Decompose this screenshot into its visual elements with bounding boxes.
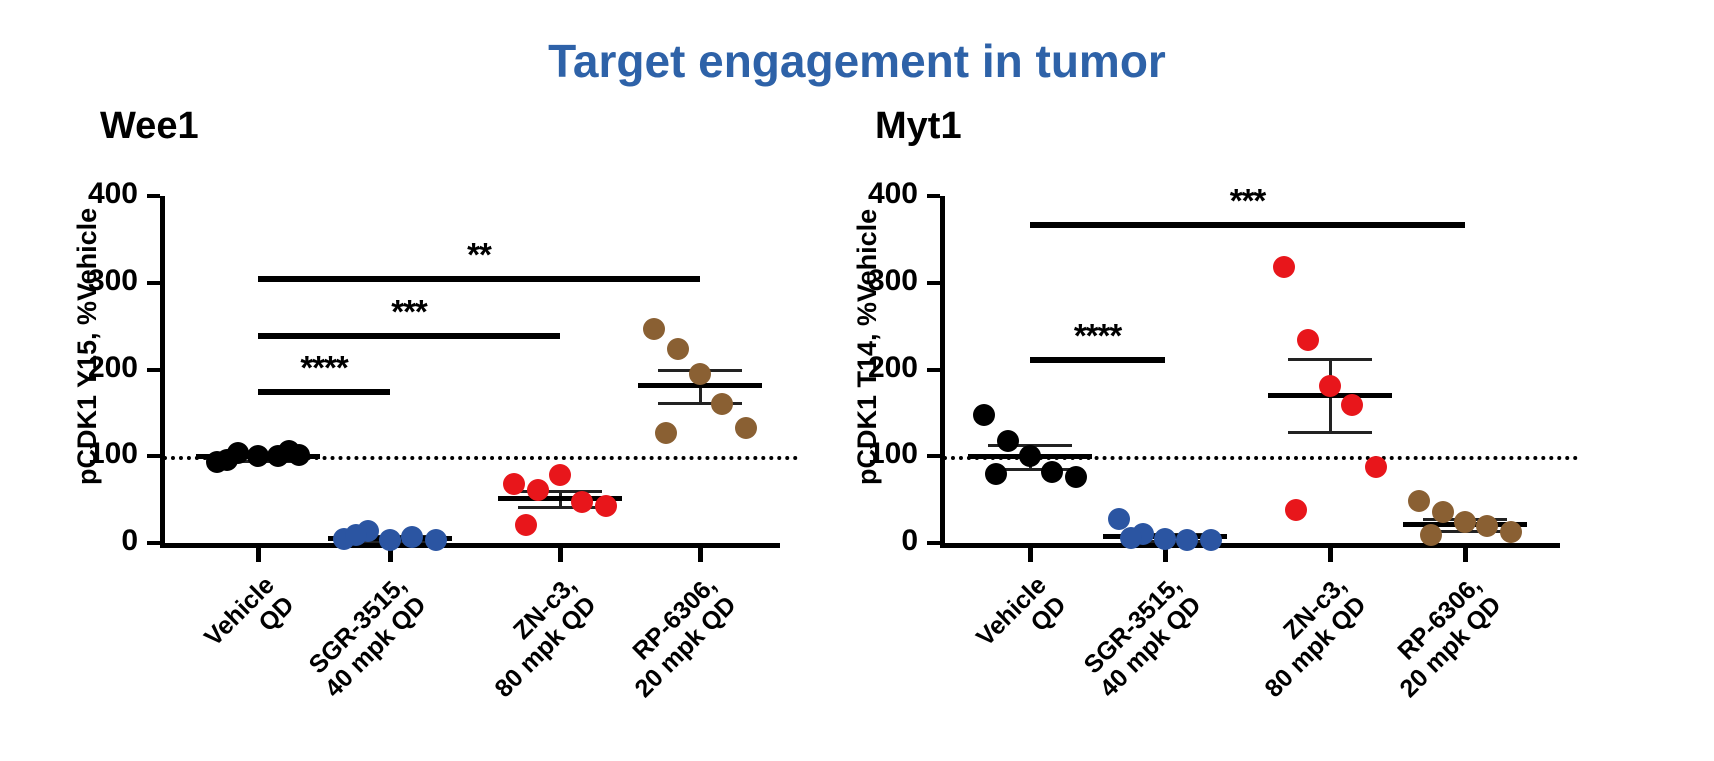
error-bar-cap-lower <box>1288 431 1372 434</box>
x-tick <box>558 548 563 562</box>
y-tick-label: 100 <box>20 437 138 471</box>
data-point <box>1176 529 1198 551</box>
data-point <box>1120 527 1142 549</box>
figure-title: Target engagement in tumor <box>0 34 1714 88</box>
data-point <box>1041 461 1063 483</box>
significance-stars: *** <box>258 293 560 331</box>
data-point <box>997 430 1019 452</box>
y-tick <box>147 368 160 372</box>
data-point <box>689 363 711 385</box>
y-tick-label: 0 <box>20 524 138 558</box>
data-point <box>1285 499 1307 521</box>
y-tick <box>927 368 940 372</box>
data-point <box>549 464 571 486</box>
significance-bar <box>1030 357 1165 363</box>
y-tick <box>147 281 160 285</box>
x-tick <box>1328 548 1333 562</box>
y-axis-line <box>160 196 165 548</box>
y-tick <box>147 194 160 198</box>
x-axis-line <box>160 543 780 548</box>
error-bar-cap-upper <box>1288 358 1372 361</box>
data-point <box>1319 375 1341 397</box>
significance-bar <box>258 276 700 282</box>
data-point <box>1341 394 1363 416</box>
data-point <box>379 529 401 551</box>
y-tick <box>927 281 940 285</box>
significance-stars: **** <box>258 349 390 387</box>
y-tick-label: 200 <box>800 351 918 385</box>
panel-title-myt1: Myt1 <box>875 105 962 148</box>
significance-stars: *** <box>1030 182 1465 220</box>
data-point <box>595 495 617 517</box>
y-tick-label: 300 <box>20 264 138 298</box>
data-point <box>1454 511 1476 533</box>
x-tick <box>698 548 703 562</box>
y-tick <box>927 454 940 458</box>
y-tick-label: 400 <box>20 177 138 211</box>
data-point <box>571 491 593 513</box>
data-point <box>1273 256 1295 278</box>
data-point <box>425 529 447 551</box>
data-point <box>643 318 665 340</box>
data-point <box>1019 445 1041 467</box>
significance-bar <box>1030 222 1465 228</box>
data-point <box>1065 466 1087 488</box>
data-point <box>711 393 733 415</box>
significance-stars: **** <box>1030 317 1165 355</box>
data-point <box>1476 515 1498 537</box>
x-tick <box>1463 548 1468 562</box>
y-axis-line <box>940 196 945 548</box>
y-tick-label: 200 <box>20 351 138 385</box>
data-point <box>735 417 757 439</box>
data-point <box>1500 521 1522 543</box>
data-point <box>667 338 689 360</box>
y-tick-label: 0 <box>800 524 918 558</box>
data-point <box>1408 490 1430 512</box>
y-tick-label: 100 <box>800 437 918 471</box>
data-point <box>1200 529 1222 551</box>
y-tick-label: 400 <box>800 177 918 211</box>
data-point <box>216 449 238 471</box>
x-tick <box>256 548 261 562</box>
significance-bar <box>258 333 560 339</box>
y-tick <box>927 541 940 545</box>
y-tick-label: 300 <box>800 264 918 298</box>
y-tick <box>147 454 160 458</box>
data-point <box>1297 329 1319 351</box>
significance-bar <box>258 389 390 395</box>
data-point <box>515 514 537 536</box>
figure-root: Target engagement in tumor Wee1pCDK1 Y15… <box>0 0 1714 754</box>
data-point <box>985 463 1007 485</box>
data-point <box>1432 501 1454 523</box>
y-tick <box>147 541 160 545</box>
data-point <box>527 479 549 501</box>
data-point <box>655 422 677 444</box>
data-point <box>278 440 300 462</box>
data-point <box>503 473 525 495</box>
data-point <box>1365 456 1387 478</box>
data-point <box>1108 508 1130 530</box>
data-point <box>401 526 423 548</box>
y-tick <box>927 194 940 198</box>
significance-stars: ** <box>258 236 700 274</box>
x-tick <box>1163 548 1168 562</box>
data-point <box>973 404 995 426</box>
x-tick <box>1028 548 1033 562</box>
data-point <box>247 445 269 467</box>
panel-title-wee1: Wee1 <box>100 105 199 148</box>
data-point <box>1154 528 1176 550</box>
